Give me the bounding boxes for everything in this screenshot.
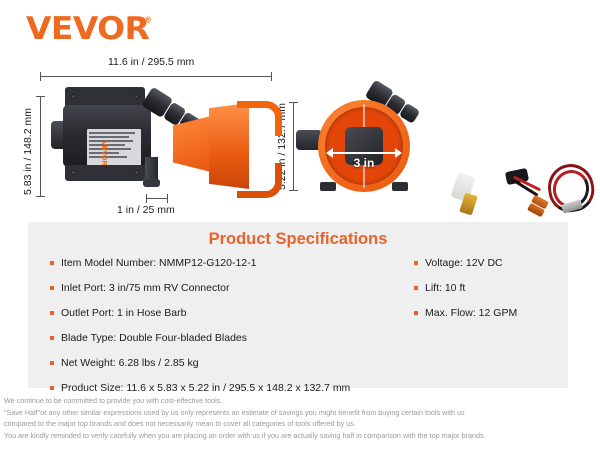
spec-item-text: Voltage: 12V DC (425, 257, 503, 270)
pump-foot-right (392, 182, 408, 191)
dimension-height-left-tick-top (36, 96, 45, 97)
accessory-power-cable (548, 164, 594, 220)
spec-item-text: Outlet Port: 1 in Hose Barb (61, 307, 186, 320)
brand-wordmark: VEVOR (26, 14, 149, 45)
spec-panel-title: Product Specifications (28, 230, 568, 249)
product-specifications-panel: Product Specifications Item Model Number… (28, 222, 568, 388)
product-hero-image: 11.6 in / 295.5 mm 5.83 in / 148.2 mm 5.… (0, 52, 600, 222)
spec-item: Voltage: 12V DC (414, 257, 564, 270)
bullet-icon (50, 261, 54, 265)
spec-item-text: Blade Type: Double Four-bladed Blades (61, 332, 247, 345)
pump-side-view: VEVOR (55, 87, 275, 212)
spec-item: Lift: 10 ft (414, 282, 564, 295)
vevor-logo: VEVOR ® (26, 14, 151, 45)
dimension-width-tick-left (40, 72, 41, 81)
inlet-diameter-label: 3 in (318, 156, 410, 170)
spec-item: Max. Flow: 12 GPM (414, 307, 564, 320)
pump-label-text-lines (89, 132, 139, 160)
spec-item-text: Max. Flow: 12 GPM (425, 307, 517, 320)
pump-top-mount-plate (65, 87, 145, 107)
dimension-width-line (40, 76, 272, 77)
inlet-diameter-arrow-icon (332, 152, 396, 154)
bullet-icon (414, 261, 418, 265)
spec-item: Outlet Port: 1 in Hose Barb (50, 307, 390, 320)
spec-item-text: Net Weight: 6.28 lbs / 2.85 kg (61, 357, 199, 370)
spec-item: Product Size: 11.6 x 5.83 x 5.22 in / 29… (50, 382, 390, 395)
bullet-icon (414, 311, 418, 315)
spec-item-text: Item Model Number: NMMP12-G120-12-1 (61, 257, 257, 270)
spec-item: Blade Type: Double Four-bladed Blades (50, 332, 390, 345)
disclaimer-footer: We continue to be committed to provide y… (4, 395, 596, 442)
disclaimer-line: We continue to be committed to provide y… (4, 395, 596, 407)
dimension-height-left-label: 5.83 in / 148.2 mm (22, 108, 34, 195)
dimension-height-right-tick-top (289, 102, 298, 103)
dimension-height-right-line (293, 102, 294, 190)
bullet-icon (50, 361, 54, 365)
pump-foot-left (320, 182, 336, 191)
dimension-width-label: 11.6 in / 295.5 mm (108, 56, 194, 68)
disclaimer-line: "Save Half"or any other similar expressi… (4, 407, 596, 419)
accessory-hose-barb (450, 174, 484, 216)
dimension-width-tick-right (271, 72, 272, 81)
bullet-icon (50, 386, 54, 390)
dimension-height-right-tick-bottom (289, 190, 298, 191)
disclaimer-line: You are kindly reminded to verify carefu… (4, 430, 596, 442)
spec-item-text: Product Size: 11.6 x 5.83 x 5.22 in / 29… (61, 382, 350, 395)
rv-connector-bracket (173, 103, 277, 189)
spec-item-text: Lift: 10 ft (425, 282, 465, 295)
disclaimer-line: compared to the major top brands and doe… (4, 418, 596, 430)
spec-item: Item Model Number: NMMP12-G120-12-1 (50, 257, 390, 270)
bullet-icon (50, 286, 54, 290)
pump-bottom-mount-plate (65, 165, 145, 181)
pump-body: VEVOR (63, 105, 151, 167)
spec-left-column: Item Model Number: NMMP12-G120-12-1 Inle… (50, 257, 390, 408)
spec-right-column: Voltage: 12V DC Lift: 10 ft Max. Flow: 1… (414, 257, 564, 332)
bullet-icon (50, 336, 54, 340)
pump-outlet-port (145, 157, 158, 187)
dimension-height-left-line (40, 96, 41, 196)
dimension-height-left-tick-bottom (36, 196, 45, 197)
spec-item-text: Inlet Port: 3 in/75 mm RV Connector (61, 282, 229, 295)
pump-label-brand: VEVOR (100, 141, 107, 166)
pump-front-view: 3 in (318, 100, 414, 196)
spec-item: Inlet Port: 3 in/75 mm RV Connector (50, 282, 390, 295)
bullet-icon (414, 286, 418, 290)
spec-item: Net Weight: 6.28 lbs / 2.85 kg (50, 357, 390, 370)
bullet-icon (50, 311, 54, 315)
